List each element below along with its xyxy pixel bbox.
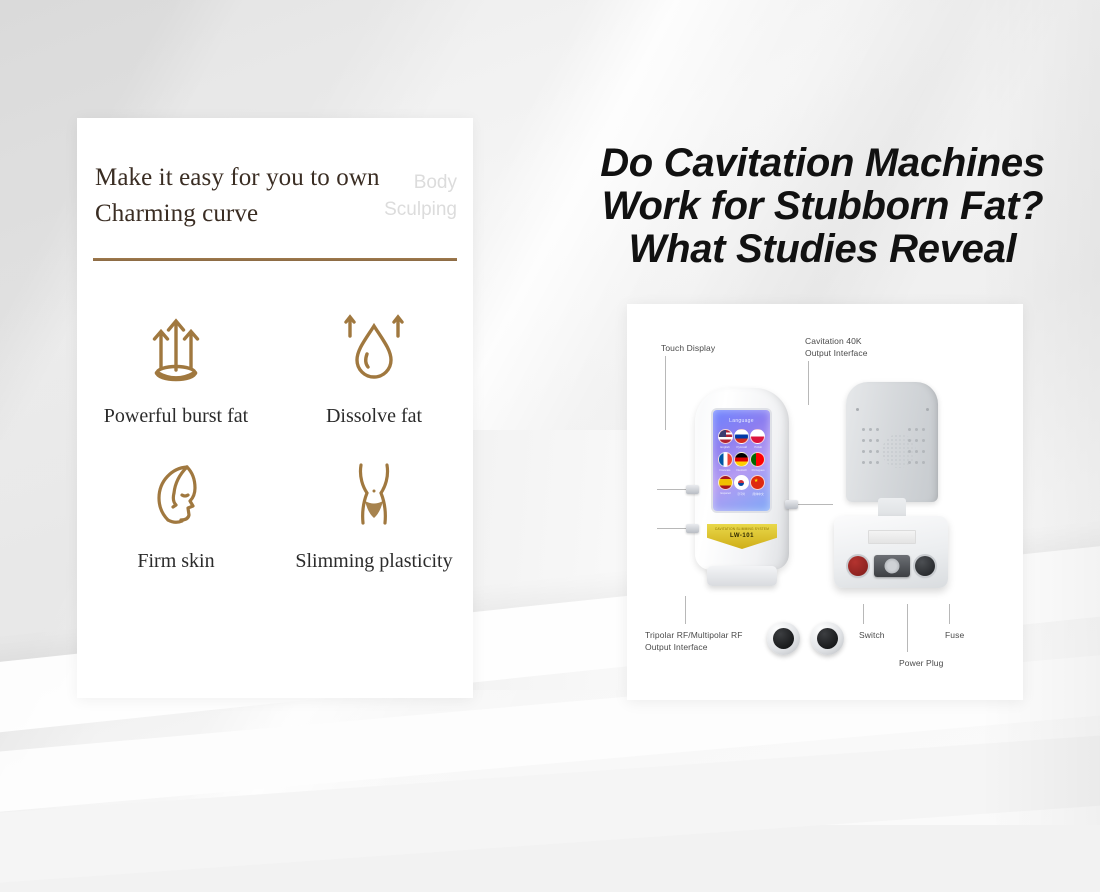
- rf-output-port: [686, 524, 699, 533]
- feature-item-dissolve-fat: Dissolve fat: [275, 305, 473, 428]
- callout-leader-line: [907, 604, 908, 652]
- device-base: [707, 566, 777, 586]
- callout-rf-output: Tripolar RF/Multipolar RF Output Interfa…: [645, 629, 775, 654]
- promo-subtitle: Body Sculping: [371, 170, 457, 224]
- flag-icon-ru: [734, 429, 749, 444]
- callout-leader-line: [657, 528, 689, 529]
- flag-icon-kr: [734, 475, 749, 490]
- language-label: Polski: [754, 445, 762, 449]
- promo-card: Make it easy for you to own Charming cur…: [77, 118, 473, 698]
- device-back-view: [832, 382, 950, 594]
- power-socket[interactable]: [874, 555, 910, 577]
- feature-grid: Powerful burst fat Dissolve fat: [77, 305, 473, 573]
- callout-leader-line: [685, 596, 686, 624]
- callout-touch-display: Touch Display: [661, 342, 715, 354]
- screen-title: Language: [713, 418, 770, 424]
- device-front-view: Language English Русский Polski F: [689, 384, 795, 594]
- promo-title-line-2: Charming curve: [95, 196, 385, 232]
- promo-subtitle-line-2: Sculping: [371, 197, 457, 224]
- callout-leader-line: [795, 504, 833, 505]
- language-label: Deutsch: [736, 468, 746, 472]
- device-model-number: LW-101: [707, 533, 777, 539]
- product-diagram-card: Touch Display Cavitation 40K Output Inte…: [627, 304, 1023, 700]
- callout-leader-line: [863, 604, 864, 624]
- language-label: Русский: [736, 445, 747, 449]
- rf-connector: [811, 622, 844, 655]
- flag-icon-us: [718, 429, 733, 444]
- power-switch[interactable]: [848, 556, 868, 576]
- language-option-english[interactable]: English: [717, 429, 733, 449]
- waist-icon: [337, 450, 411, 536]
- language-option-spanish[interactable]: Espanol: [717, 475, 733, 496]
- callout-switch: Switch: [859, 629, 885, 641]
- callout-leader-line: [657, 489, 689, 490]
- face-profile-icon: [139, 450, 213, 536]
- page-headline: Do Cavitation Machines Work for Stubborn…: [600, 142, 1045, 270]
- rf-connector: [767, 622, 800, 655]
- language-option-polish[interactable]: Polski: [750, 429, 766, 449]
- callout-leader-line: [949, 604, 950, 624]
- feature-label: Slimming plasticity: [295, 550, 452, 573]
- language-label: English: [720, 445, 729, 449]
- feature-item-powerful-burst-fat: Powerful burst fat: [77, 305, 275, 428]
- callout-leader-line: [665, 356, 666, 430]
- callout-power-plug: Power Plug: [899, 657, 943, 669]
- callout-line-1: Cavitation 40K: [805, 335, 868, 347]
- device-back-panel: [846, 382, 938, 502]
- droplet-icon: [337, 305, 411, 391]
- flag-icon-de: [734, 452, 749, 467]
- language-label: 한국어: [738, 491, 746, 496]
- promo-title: Make it easy for you to own Charming cur…: [95, 160, 385, 231]
- flag-icon-pt: [750, 452, 765, 467]
- flag-icon-fr: [718, 452, 733, 467]
- device-rating-label: [868, 530, 916, 544]
- cavitation-output-port: [785, 500, 798, 509]
- callout-fuse: Fuse: [945, 629, 964, 641]
- feature-label: Firm skin: [137, 550, 214, 573]
- device-control-panel: [846, 552, 936, 580]
- language-option-french[interactable]: Francais: [717, 452, 733, 472]
- language-option-german[interactable]: Deutsch: [733, 452, 749, 472]
- language-option-russian[interactable]: Русский: [733, 429, 749, 449]
- arrows-up-icon: [139, 305, 213, 391]
- device-touch-display[interactable]: Language English Русский Polski F: [713, 410, 770, 511]
- promo-title-line-1: Make it easy for you to own: [95, 160, 385, 196]
- language-option-portuguese[interactable]: Portugues: [750, 452, 766, 472]
- promo-subtitle-line-1: Body: [371, 170, 457, 197]
- language-option-chinese[interactable]: ★ 简体中文: [750, 475, 766, 496]
- language-grid: English Русский Polski Francais Deutsch: [717, 429, 766, 496]
- language-label: Espanol: [720, 491, 730, 495]
- flag-icon-es: [718, 475, 733, 490]
- feature-label: Dissolve fat: [326, 405, 422, 428]
- callout-leader-line: [808, 361, 809, 405]
- flag-icon-cn: ★: [750, 475, 765, 490]
- language-label: 简体中文: [752, 491, 763, 496]
- callout-cavitation-output: Cavitation 40K Output Interface: [805, 335, 868, 360]
- promo-divider: [93, 258, 457, 261]
- flag-icon-pl: [750, 429, 765, 444]
- device-back-base: [834, 516, 948, 588]
- callout-line-2: Output Interface: [805, 347, 868, 359]
- rf-output-port: [686, 485, 699, 494]
- language-option-korean[interactable]: 한국어: [733, 475, 749, 496]
- promo-card-header: Make it easy for you to own Charming cur…: [77, 118, 473, 231]
- language-label: Francais: [720, 468, 731, 472]
- language-label: Portugues: [751, 468, 764, 472]
- device-brand-text: CAVITATION SLIMMING SYSTEM: [707, 527, 777, 531]
- feature-label: Powerful burst fat: [104, 405, 248, 428]
- fuse-holder[interactable]: [915, 556, 935, 576]
- feature-item-slimming-plasticity: Slimming plasticity: [275, 450, 473, 573]
- callout-line-2: Output Interface: [645, 641, 775, 653]
- feature-item-firm-skin: Firm skin: [77, 450, 275, 573]
- callout-line-1: Tripolar RF/Multipolar RF: [645, 629, 775, 641]
